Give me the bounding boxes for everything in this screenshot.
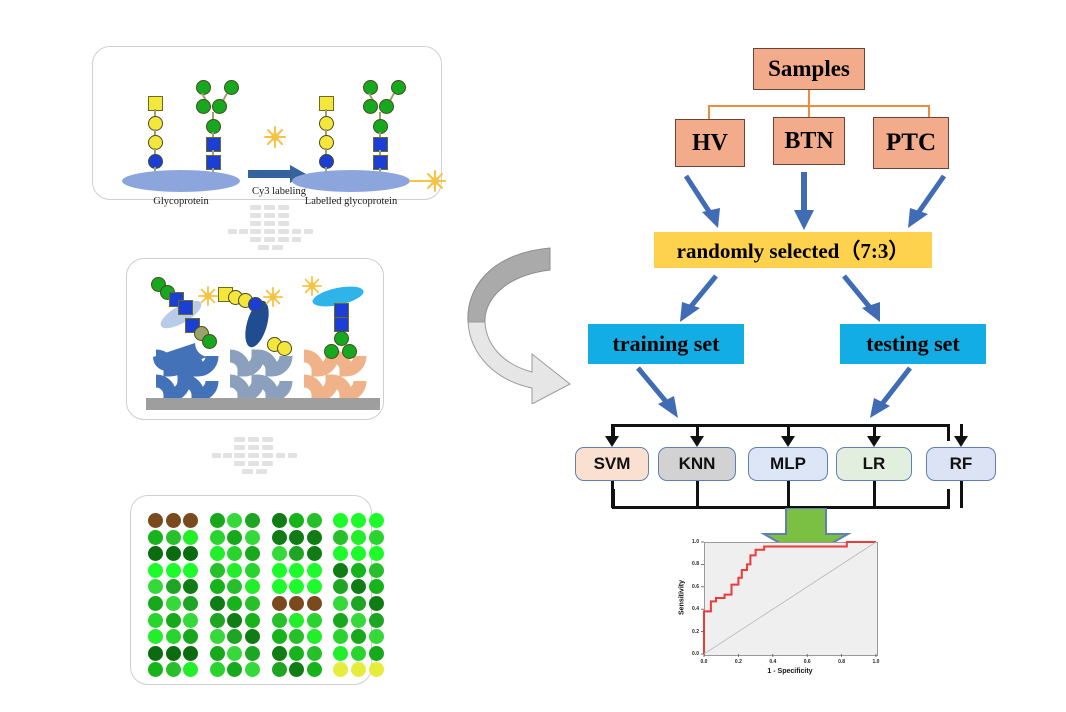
microarray-spot xyxy=(148,646,163,661)
microarray-spot xyxy=(272,546,287,561)
microarray-spot xyxy=(148,613,163,628)
microarray-spot xyxy=(369,579,384,594)
model-collect-stem xyxy=(696,481,699,508)
fluorophore-star-icon xyxy=(302,276,322,296)
roc-x-tick: 0.2 xyxy=(730,659,746,665)
model-feed-arrowhead xyxy=(781,436,795,447)
microarray-spot xyxy=(289,530,304,545)
microarray-spot xyxy=(351,563,366,578)
fluorophore-star-icon xyxy=(264,126,286,148)
testing-set-box[interactable]: testing set xyxy=(840,324,986,364)
group-label-btn: BTN xyxy=(784,128,833,155)
microarray-spot xyxy=(289,646,304,661)
flow-arrow-testing xyxy=(838,272,890,328)
microarray-spot xyxy=(245,530,260,545)
glycan-circle-icon xyxy=(363,80,378,95)
microarray-spot xyxy=(166,530,181,545)
microarray-spot xyxy=(166,513,181,528)
glycan-circle-icon xyxy=(148,116,163,131)
microarray-spot xyxy=(183,613,198,628)
glycan-square-icon xyxy=(373,155,388,170)
microarray-spot xyxy=(166,563,181,578)
microarray-spot xyxy=(210,563,225,578)
samples-connector-bus xyxy=(708,105,930,107)
microarray-spot xyxy=(369,629,384,644)
roc-y-tick: 0.2 xyxy=(682,629,699,635)
microarray-spot xyxy=(245,646,260,661)
roc-y-tick: 0.8 xyxy=(682,561,699,567)
microarray-spot xyxy=(369,596,384,611)
roc-x-axis-title: 1 - Specificity xyxy=(704,668,876,675)
microarray-spot xyxy=(166,613,181,628)
microarray-spot xyxy=(272,646,287,661)
dashed-flow-arrow xyxy=(228,205,298,257)
classifier-box-rf[interactable]: RF xyxy=(926,447,996,481)
glycan-square-icon xyxy=(178,300,193,315)
microarray-spot xyxy=(369,646,384,661)
group-box-hv[interactable]: HV xyxy=(675,119,745,167)
microarray-spot xyxy=(307,596,322,611)
model-feed-arrowhead xyxy=(954,436,968,447)
flow-arrow-ptc xyxy=(900,172,952,234)
glycan-circle-icon xyxy=(363,99,378,114)
group-label-hv: HV xyxy=(692,130,728,157)
microarray-spot xyxy=(148,563,163,578)
roc-x-tick: 0.8 xyxy=(834,659,850,665)
glycan-square-icon xyxy=(334,317,349,332)
microarray-spot xyxy=(245,563,260,578)
glycan-square-icon xyxy=(206,155,221,170)
microarray-spot xyxy=(289,563,304,578)
glycan-square-icon xyxy=(319,96,334,111)
glycan-square-icon xyxy=(373,137,388,152)
group-box-btn[interactable]: BTN xyxy=(773,117,845,165)
lectin-comb-icon xyxy=(152,343,230,401)
microarray-spot xyxy=(272,596,287,611)
microarray-spot xyxy=(166,596,181,611)
model-bus-top xyxy=(612,424,950,427)
microarray-spot xyxy=(148,530,163,545)
roc-x-tick: 0.0 xyxy=(696,659,712,665)
roc-y-tick: 0.0 xyxy=(682,651,699,657)
glycoprotein-label: Glycoprotein xyxy=(122,196,240,207)
microarray-spot xyxy=(307,563,322,578)
roc-x-tick: 1.0 xyxy=(868,659,884,665)
glycan-circle-icon xyxy=(148,135,163,150)
roc-y-tick: 0.6 xyxy=(682,584,699,590)
microarray-spot xyxy=(333,613,348,628)
microarray-spot xyxy=(307,513,322,528)
glycan-circle-icon xyxy=(196,99,211,114)
microarray-spot xyxy=(369,662,384,677)
glycan-square-icon xyxy=(206,137,221,152)
group-box-ptc[interactable]: PTC xyxy=(873,117,949,169)
microarray-spot xyxy=(351,530,366,545)
roc-curve-chart: 1 - Specificity Sensitivity 0.00.20.40.6… xyxy=(668,536,890,686)
microarray-spot xyxy=(351,596,366,611)
glycan-circle-icon xyxy=(212,99,227,114)
microarray-spot xyxy=(307,646,322,661)
microarray-spot xyxy=(166,579,181,594)
fluorophore-star-icon xyxy=(198,286,218,306)
random-split-label: randomly selected（7:3） xyxy=(677,235,910,265)
microarray-spot xyxy=(210,613,225,628)
training-set-box[interactable]: training set xyxy=(588,324,744,364)
microarray-spot xyxy=(245,513,260,528)
glycan-circle-icon xyxy=(206,119,221,134)
glycan-square-icon xyxy=(334,303,349,318)
microarray-spot xyxy=(227,613,242,628)
testing-set-label: testing set xyxy=(866,331,959,357)
dashed-flow-arrow xyxy=(212,437,282,489)
glycan-circle-icon xyxy=(248,297,263,312)
microarray-spot xyxy=(166,646,181,661)
microarray-spot xyxy=(210,646,225,661)
model-collect-stem xyxy=(960,481,963,508)
model-collect-stem xyxy=(787,481,790,508)
microarray-spot xyxy=(351,646,366,661)
microarray-spot xyxy=(166,629,181,644)
model-feed-arrowhead xyxy=(867,436,881,447)
glycan-circle-icon xyxy=(319,116,334,131)
glycan-circle-icon xyxy=(148,154,163,169)
classifier-label: KNN xyxy=(679,454,716,474)
microarray-spot xyxy=(227,530,242,545)
microarray-spot xyxy=(148,513,163,528)
flow-arrow-testing-to-models xyxy=(860,366,918,424)
microarray-spot xyxy=(272,629,287,644)
flow-arrow-training-to-models xyxy=(630,366,688,424)
microarray-spot xyxy=(307,629,322,644)
flow-arrow-hv xyxy=(680,172,728,234)
roc-x-tick: 0.4 xyxy=(765,659,781,665)
microarray-spot xyxy=(307,546,322,561)
microarray-spot xyxy=(272,530,287,545)
roc-y-tick: 1.0 xyxy=(682,539,699,545)
microarray-spot xyxy=(272,662,287,677)
labelled-glycoprotein-label: Labelled glycoprotein xyxy=(281,196,421,207)
array-substrate xyxy=(146,398,380,410)
microarray-spot xyxy=(183,563,198,578)
labelled-glycoprotein-body xyxy=(292,170,410,192)
microarray-spot xyxy=(183,530,198,545)
model-bus-endcap xyxy=(947,489,950,509)
classifier-label: SVM xyxy=(594,454,631,474)
group-label-ptc: PTC xyxy=(886,129,936,157)
lectin-comb-icon xyxy=(226,343,304,401)
microarray-spot xyxy=(210,513,225,528)
model-bus-endcap xyxy=(612,424,615,441)
microarray-spot xyxy=(272,563,287,578)
fluorophore-star-icon xyxy=(263,287,283,307)
glycan-circle-icon xyxy=(379,99,394,114)
curved-transition-arrow xyxy=(458,232,582,404)
microarray-spot xyxy=(210,530,225,545)
microarray-spot xyxy=(351,513,366,528)
flow-arrow-training xyxy=(672,272,724,328)
microarray-spot xyxy=(369,613,384,628)
roc-y-tick: 0.4 xyxy=(682,606,699,612)
glycan-circle-icon xyxy=(319,154,334,169)
microarray-spot xyxy=(272,513,287,528)
microarray-spot xyxy=(333,530,348,545)
microarray-spot xyxy=(369,546,384,561)
model-bus-endcap xyxy=(612,489,615,509)
microarray-spot xyxy=(307,530,322,545)
fluorophore-star-icon xyxy=(424,170,446,192)
glycan-circle-icon xyxy=(373,119,388,134)
glycan-square-icon xyxy=(148,96,163,111)
microarray-spot xyxy=(351,613,366,628)
model-bus-endcap xyxy=(947,424,950,441)
flow-arrow-btn xyxy=(792,170,816,234)
microarray-spot xyxy=(369,513,384,528)
microarray-spot xyxy=(166,546,181,561)
model-feed-arrowhead xyxy=(690,436,704,447)
classifier-label: MLP xyxy=(770,454,806,474)
microarray-spot xyxy=(210,546,225,561)
microarray-spot xyxy=(183,646,198,661)
random-split-box[interactable]: randomly selected（7:3） xyxy=(654,232,932,268)
glycan-circle-icon xyxy=(342,344,357,359)
glycan-circle-icon xyxy=(324,344,339,359)
classifier-box-svm[interactable]: SVM xyxy=(575,447,649,481)
microarray-spot xyxy=(148,596,163,611)
microarray-spot xyxy=(272,613,287,628)
microarray-spot xyxy=(210,629,225,644)
microarray-spot xyxy=(210,596,225,611)
microarray-spot xyxy=(272,579,287,594)
glycan-circle-icon xyxy=(319,135,334,150)
classifier-box-mlp[interactable]: MLP xyxy=(748,447,828,481)
microarray-spot xyxy=(245,596,260,611)
microarray-spot xyxy=(369,530,384,545)
glycan-circle-icon xyxy=(277,341,292,356)
glycoprotein-body xyxy=(122,170,240,192)
microarray-spot xyxy=(369,563,384,578)
glycan-circle-icon xyxy=(196,80,211,95)
classifier-label: LR xyxy=(863,454,886,474)
samples-label: Samples xyxy=(768,56,850,82)
microarray-spot xyxy=(166,662,181,677)
model-collect-stem xyxy=(873,481,876,508)
roc-x-tick: 0.6 xyxy=(799,659,815,665)
classifier-box-lr[interactable]: LR xyxy=(836,447,912,481)
microarray-spot xyxy=(289,613,304,628)
classifier-label: RF xyxy=(950,454,973,474)
lectin-comb-icon xyxy=(300,343,378,401)
samples-box[interactable]: Samples xyxy=(753,48,865,90)
glycan-circle-icon xyxy=(202,334,217,349)
roc-y-axis-title: Sensitivity xyxy=(679,568,686,628)
microarray-spot xyxy=(245,613,260,628)
training-set-label: training set xyxy=(613,331,720,357)
microarray-spot xyxy=(307,613,322,628)
classifier-box-knn[interactable]: KNN xyxy=(658,447,736,481)
